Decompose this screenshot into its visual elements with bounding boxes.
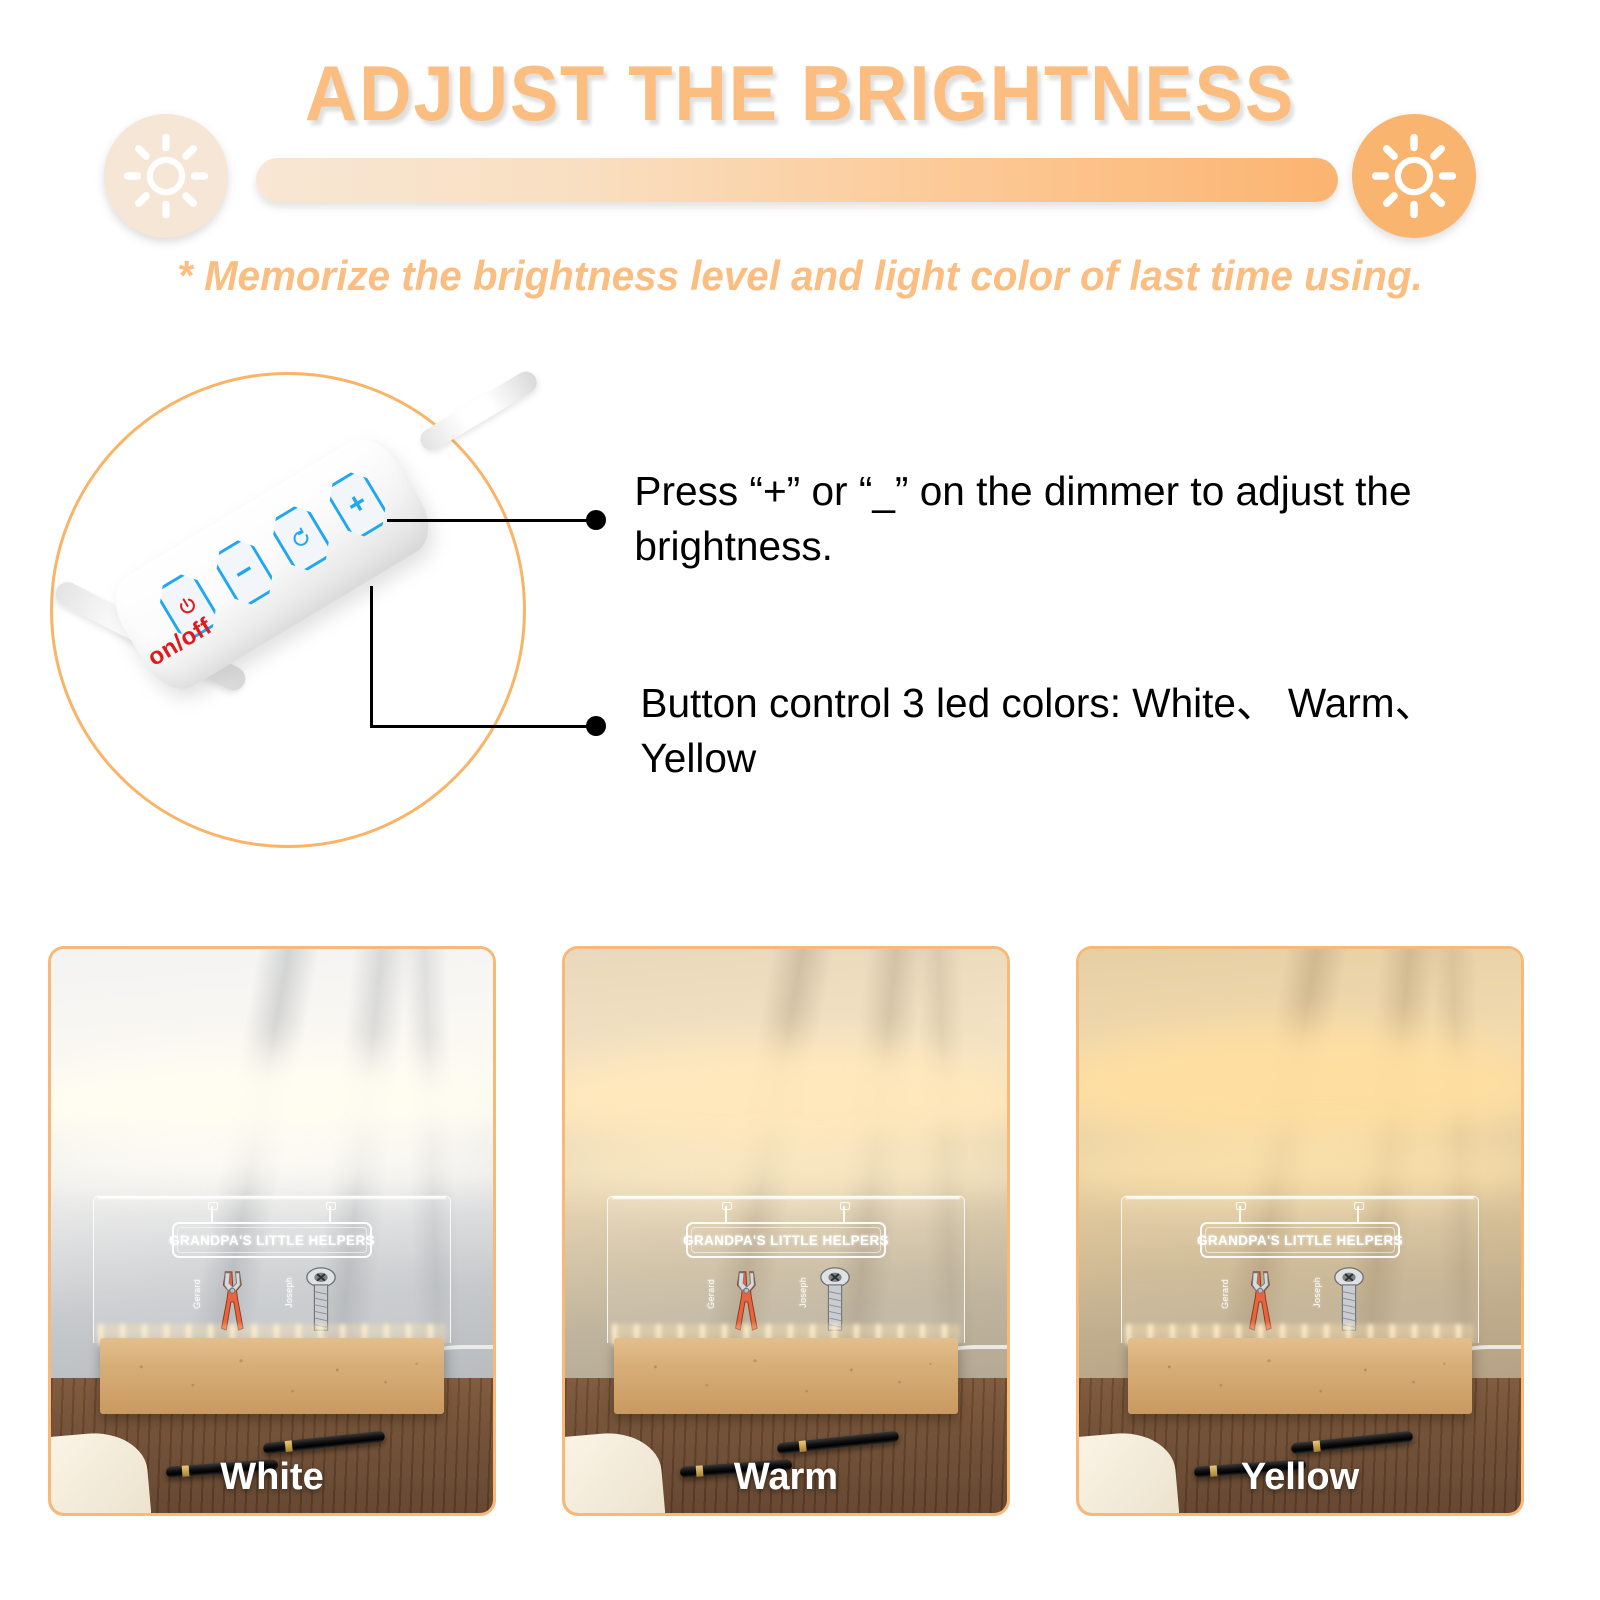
pen-band [799, 1441, 807, 1453]
engraved-name-left: Gerard [706, 1279, 716, 1309]
photo-label-white: White [51, 1456, 493, 1499]
pen-band [285, 1441, 293, 1453]
screw-icon [818, 1266, 852, 1334]
wall-light-glow-secondary [1076, 1138, 1524, 1198]
sign-hanger-right [1357, 1206, 1359, 1222]
sign-text: GRANDPA'S LITTLE HELPERS [1197, 1233, 1403, 1248]
panel-top-glint [98, 1196, 447, 1199]
wood-specks [614, 1338, 959, 1414]
wooden-base [1128, 1338, 1473, 1414]
wall-light-glow [562, 1043, 1010, 1154]
pliers-icon [1239, 1270, 1277, 1332]
photo-label-yellow: Yellow [1079, 1456, 1521, 1499]
panel-top-glint [612, 1196, 961, 1199]
engraved-name-left: Gerard [192, 1279, 202, 1309]
sign-text: GRANDPA'S LITTLE HELPERS [683, 1233, 889, 1248]
acrylic-panel: GRANDPA'S LITTLE HELPERS [93, 1196, 451, 1343]
photo-label-warm: Warm [565, 1456, 1007, 1499]
pliers-icon [211, 1270, 249, 1332]
sign-hanger-right [843, 1206, 845, 1222]
photo-card-white[interactable]: GRANDPA'S LITTLE HELPERS [48, 946, 496, 1516]
wall-light-glow [1076, 1026, 1524, 1146]
wall-light-glow-secondary [562, 1142, 1010, 1198]
wooden-base [614, 1338, 959, 1414]
product-scene: GRANDPA'S LITTLE HELPERS [1079, 949, 1521, 1513]
wood-specks [1128, 1338, 1473, 1414]
sign-hanger-left [725, 1206, 727, 1222]
engraved-name-right: Joseph [1312, 1277, 1322, 1308]
product-scene: GRANDPA'S LITTLE HELPERS [565, 949, 1007, 1513]
sign-hanger-left [211, 1206, 213, 1222]
engraved-name-right: Joseph [284, 1277, 294, 1308]
engraved-name-left: Gerard [1220, 1279, 1230, 1309]
sign-hanger-right [329, 1206, 331, 1222]
engraved-sign: GRANDPA'S LITTLE HELPERS [686, 1222, 885, 1258]
wall-light-glow-secondary [48, 1138, 496, 1194]
product-scene: GRANDPA'S LITTLE HELPERS [51, 949, 493, 1513]
engraved-sign: GRANDPA'S LITTLE HELPERS [1200, 1222, 1399, 1258]
photo-card-row: GRANDPA'S LITTLE HELPERS [0, 0, 1600, 1600]
photo-card-yellow[interactable]: GRANDPA'S LITTLE HELPERS [1076, 946, 1524, 1516]
wood-specks [100, 1338, 445, 1414]
photo-card-warm[interactable]: GRANDPA'S LITTLE HELPERS [562, 946, 1010, 1516]
pen-band [1313, 1441, 1321, 1453]
engraved-sign: GRANDPA'S LITTLE HELPERS [172, 1222, 371, 1258]
pliers-icon [725, 1270, 763, 1332]
sign-hanger-left [1239, 1206, 1241, 1222]
wooden-base [100, 1338, 445, 1414]
panel-top-glint [1126, 1196, 1475, 1199]
acrylic-panel: GRANDPA'S LITTLE HELPERS [1121, 1196, 1479, 1343]
screw-icon [1332, 1266, 1366, 1334]
acrylic-panel: GRANDPA'S LITTLE HELPERS [607, 1196, 965, 1343]
sign-text: GRANDPA'S LITTLE HELPERS [169, 1233, 375, 1248]
engraved-name-right: Joseph [798, 1277, 808, 1308]
screw-icon [304, 1266, 338, 1334]
